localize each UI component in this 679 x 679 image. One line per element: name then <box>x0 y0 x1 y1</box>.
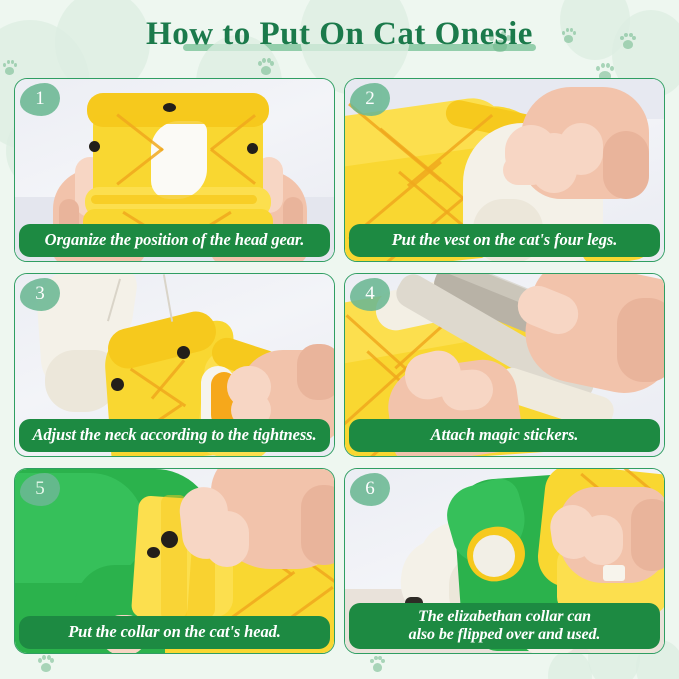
page-title-container: How to Put On Cat Onesie <box>0 16 679 52</box>
step-number-badge: 2 <box>350 83 390 116</box>
step-caption: Adjust the neck according to the tightne… <box>19 419 330 452</box>
step-caption-line: also be flipped over and used. <box>355 626 654 644</box>
snap-button-icon <box>161 531 178 548</box>
paw-print-icon <box>370 656 385 672</box>
step-number-badge: 3 <box>20 278 60 311</box>
paw-print-icon <box>3 60 17 76</box>
background-blob <box>548 650 592 679</box>
step-panel-3[interactable]: 3 Adjust the neck according to the tight… <box>14 273 335 457</box>
snap-button-icon <box>247 143 258 154</box>
snap-button-icon <box>111 378 124 391</box>
step-caption: Put the collar on the cat's head. <box>19 616 330 649</box>
steps-grid: 1 Organize the position of the head gear… <box>14 78 665 654</box>
snap-button-icon <box>89 141 100 152</box>
paw-print-icon <box>258 58 274 75</box>
step-number-badge: 5 <box>20 473 60 506</box>
step-caption: Put the vest on the cat's four legs. <box>349 224 660 257</box>
step-number-badge: 1 <box>20 83 60 116</box>
snap-button-icon <box>147 547 160 558</box>
step-caption-line: The elizabethan collar can <box>355 608 654 626</box>
snap-button-icon <box>163 103 176 112</box>
step-panel-6[interactable]: 6 The elizabethan collar can also be fli… <box>344 468 665 654</box>
step-caption: Attach magic stickers. <box>349 419 660 452</box>
step-caption: The elizabethan collar can also be flipp… <box>349 603 660 649</box>
step-panel-1[interactable]: 1 Organize the position of the head gear… <box>14 78 335 262</box>
step-panel-5[interactable]: 5 Put the collar on the cat's head. <box>14 468 335 654</box>
step-caption: Organize the position of the head gear. <box>19 224 330 257</box>
step-number-badge: 6 <box>350 473 390 506</box>
step-panel-2[interactable]: 2 Put the vest on the cat's four legs. <box>344 78 665 262</box>
step-number-badge: 4 <box>350 278 390 311</box>
paw-print-icon <box>38 655 54 672</box>
snap-button-icon <box>177 346 190 359</box>
step-panel-4[interactable]: 4 Attach magic stickers. <box>344 273 665 457</box>
page-title: How to Put On Cat Onesie <box>146 16 533 52</box>
